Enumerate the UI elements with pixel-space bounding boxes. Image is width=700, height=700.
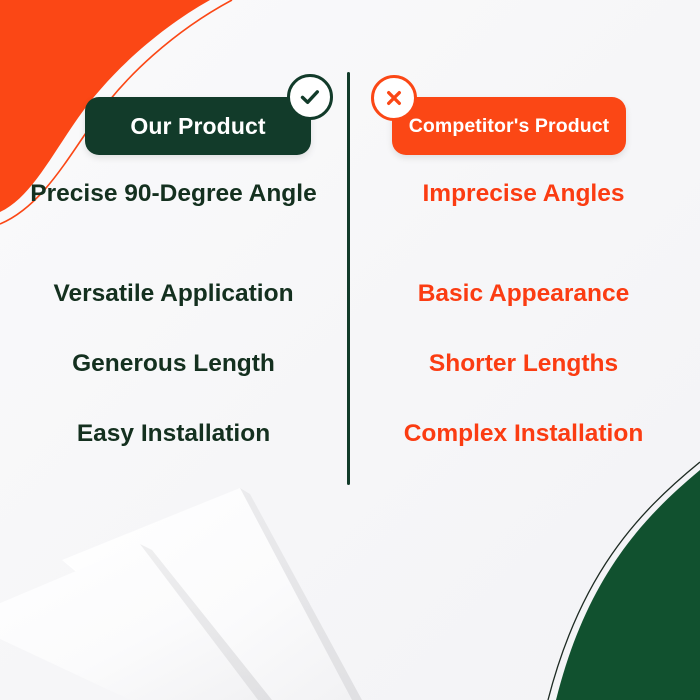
our-product-label: Our Product bbox=[130, 113, 265, 140]
white-trim-strip-lower bbox=[0, 544, 272, 700]
competitor-product-label: Competitor's Product bbox=[409, 115, 610, 138]
cross-circle-icon bbox=[371, 75, 417, 121]
competitor-feature-3: Shorter Lengths bbox=[347, 348, 700, 396]
our-feature-3: Generous Length bbox=[0, 348, 347, 396]
competitor-feature-2: Basic Appearance bbox=[347, 278, 700, 326]
comparison-row: Easy Installation Complex Installation bbox=[0, 418, 700, 466]
green-curve-shape bbox=[556, 470, 700, 700]
check-circle-icon bbox=[287, 74, 333, 120]
our-feature-2: Versatile Application bbox=[0, 278, 347, 326]
competitor-feature-4: Complex Installation bbox=[347, 418, 700, 466]
comparison-infographic: Our Product Competitor's Product Precise… bbox=[0, 0, 700, 700]
comparison-row: Generous Length Shorter Lengths bbox=[0, 348, 700, 396]
comparison-row: Precise 90-Degree Angle Imprecise Angles bbox=[0, 178, 700, 256]
white-trim-strip-upper bbox=[62, 488, 362, 700]
our-feature-4: Easy Installation bbox=[0, 418, 347, 466]
comparison-rows: Precise 90-Degree Angle Imprecise Angles… bbox=[0, 178, 700, 488]
competitor-feature-1: Imprecise Angles bbox=[347, 178, 700, 256]
competitor-product-header-pill[interactable]: Competitor's Product bbox=[392, 97, 626, 155]
comparison-row: Versatile Application Basic Appearance bbox=[0, 278, 700, 326]
our-feature-1: Precise 90-Degree Angle bbox=[0, 178, 347, 256]
green-curve-outline bbox=[548, 462, 700, 700]
our-product-header-pill[interactable]: Our Product bbox=[85, 97, 311, 155]
